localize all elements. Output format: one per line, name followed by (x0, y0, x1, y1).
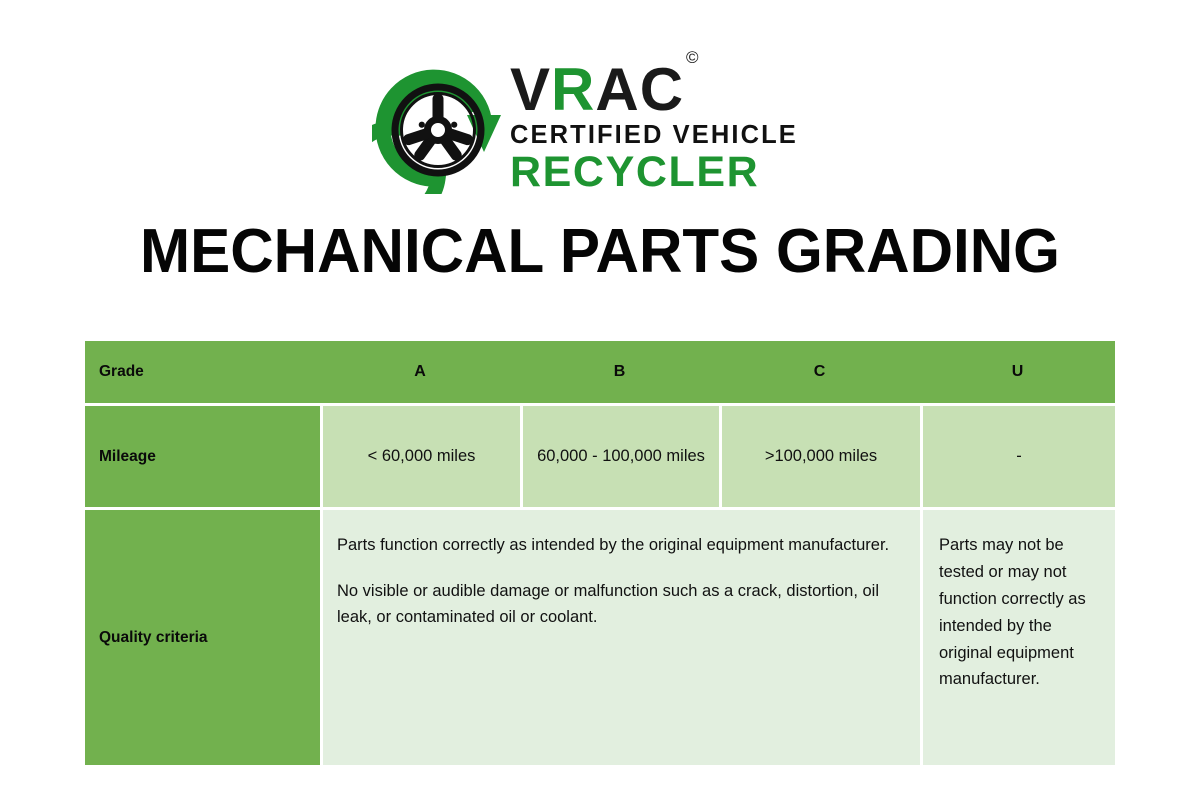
logo-letter-r: R (551, 56, 595, 123)
table-row-mileage: Mileage < 60,000 miles 60,000 - 100,000 … (85, 403, 1115, 507)
header-cell-grade-u: U (920, 341, 1115, 403)
logo-line-recycler: RECYCLER (510, 151, 798, 194)
logo-line-certified-vehicle: CERTIFIED VEHICLE (510, 123, 798, 149)
row-label-quality-criteria: Quality criteria (85, 507, 320, 765)
mileage-cell-c: >100,000 miles (719, 403, 920, 507)
mileage-cell-b: 60,000 - 100,000 miles (520, 403, 719, 507)
header-cell-grade-b: B (520, 341, 719, 403)
header-cell-grade-c: C (719, 341, 920, 403)
quality-cell-u: Parts may not be tested or may not funct… (920, 507, 1115, 765)
page-title: MECHANICAL PARTS GRADING (18, 216, 1182, 287)
table-row-quality-criteria: Quality criteria Parts function correctl… (85, 507, 1115, 765)
logo-letter-v: V (510, 56, 551, 123)
logo-wordmark: VRAC© CERTIFIED VEHICLE RECYCLER (510, 61, 798, 195)
mileage-cell-a: < 60,000 miles (320, 403, 520, 507)
quality-cell-abc: Parts function correctly as intended by … (320, 507, 920, 765)
vrac-recycling-wheel-logo-icon (372, 62, 504, 194)
copyright-icon: © (686, 48, 700, 67)
quality-abc-paragraph-2: No visible or audible damage or malfunct… (337, 578, 904, 631)
logo-letters-ac: AC (595, 56, 684, 123)
vrac-logo: VRAC© CERTIFIED VEHICLE RECYCLER (372, 55, 832, 200)
quality-abc-paragraph-1: Parts function correctly as intended by … (337, 532, 904, 559)
table-header-row: Grade A B C U (85, 341, 1115, 403)
mileage-cell-u: - (920, 403, 1115, 507)
row-label-mileage: Mileage (85, 403, 320, 507)
header-cell-grade: Grade (85, 341, 320, 403)
mechanical-parts-grading-table: Grade A B C U Mileage < 60,000 miles 60,… (85, 341, 1115, 765)
header-cell-grade-a: A (320, 341, 520, 403)
logo-line-vrac: VRAC© (510, 61, 798, 118)
